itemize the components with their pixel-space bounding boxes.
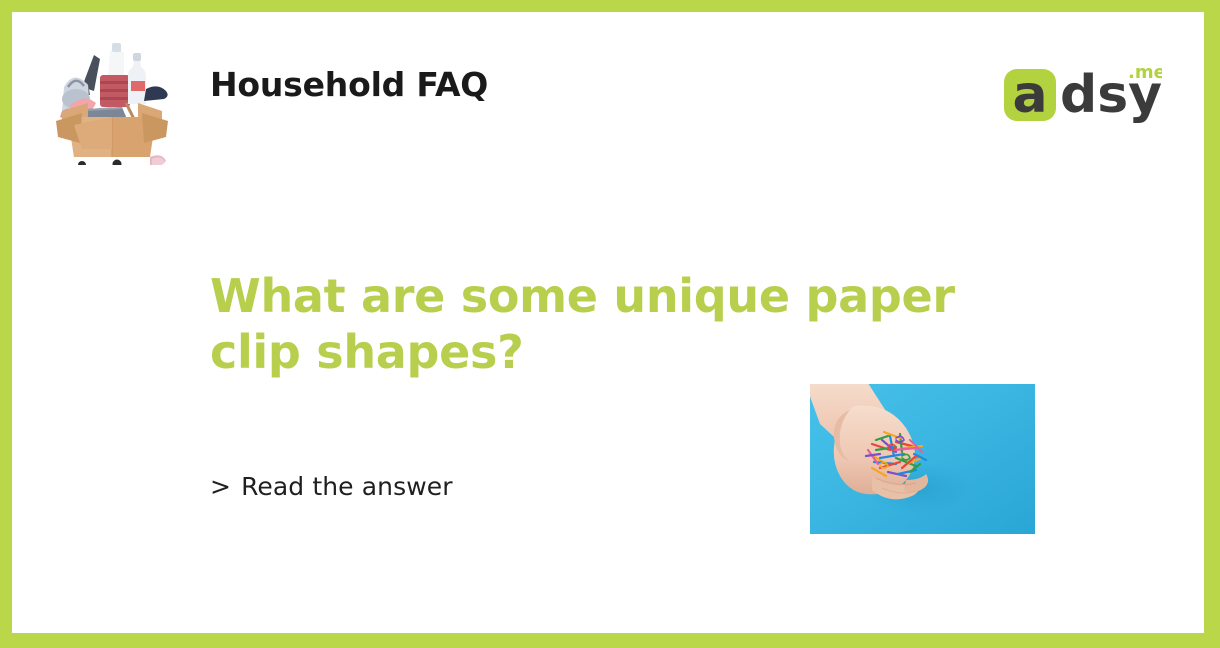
page-title: Household FAQ xyxy=(210,65,488,104)
read-answer-link[interactable]: >Read the answer xyxy=(210,472,453,501)
header: Household FAQ a dsy .me xyxy=(12,12,1204,172)
svg-text:.me: .me xyxy=(1128,62,1162,83)
faq-headline: What are some unique paper clip shapes? xyxy=(210,268,1040,380)
read-answer-label: Read the answer xyxy=(241,472,453,501)
card-inner: Household FAQ a dsy .me What are some un… xyxy=(12,12,1204,633)
paper-clips-photo xyxy=(810,384,1035,534)
svg-text:a: a xyxy=(1012,65,1047,125)
chevron-right-icon: > xyxy=(210,472,231,501)
adsy-logo[interactable]: a dsy .me xyxy=(1002,54,1162,126)
faq-card: Household FAQ a dsy .me What are some un… xyxy=(0,0,1220,648)
cardboard-box-icon xyxy=(42,25,182,165)
